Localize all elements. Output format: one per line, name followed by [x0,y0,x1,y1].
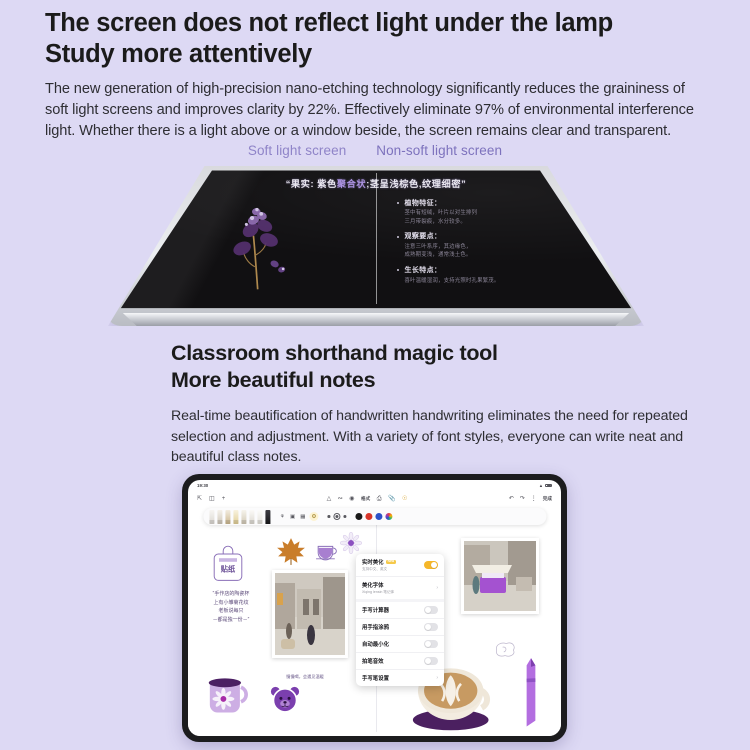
sidebar-icon[interactable]: ◫ [209,496,215,502]
check-circle-icon[interactable]: ◉ [349,496,354,502]
setting-title: 自动最小化 [362,640,389,648]
section-one-text: The screen does not reflect light under … [45,8,705,141]
label-non-soft-light-screen: Non-soft light screen [376,143,502,158]
maple-leaf-sticker [274,536,308,566]
app-toolbar: ⇱ ◫ + △ ∾ ◉ 格式 ⎙ 📎 ☉ ↶ ↷ ⋮ 完成 [188,491,561,506]
tool-fountain-pen[interactable] [209,510,214,524]
more-icon[interactable]: ⋮ [531,496,537,502]
tablet-notes-device: 19:30 ▲ ⇱ ◫ + △ ∾ ◉ 格式 ⎙ [182,474,567,742]
insert-icon[interactable]: ⎙ [377,496,382,502]
toggle-switch-off[interactable] [424,640,438,648]
toolbar-right-group: ↶ ↷ ⋮ 完成 [509,496,552,502]
heading-line-1: The screen does not reflect light under … [45,8,705,39]
screen-comparison-labels: Soft light screen Non-soft light screen [0,143,750,158]
stroke-size-large[interactable] [343,515,347,519]
street-photo [275,573,345,655]
status-time: 19:30 [197,483,208,488]
setting-title: 手写计算器 [362,606,389,614]
purple-stylus [523,656,539,730]
attach-icon[interactable]: 📎 [388,496,395,502]
note-canvas[interactable]: 贴纸 “手作店的陶瓷杯 上有小雏菊花纹 老板说每只 －都是独一份－” [188,506,561,736]
setting-title: 美化字体 [362,581,394,589]
record-icon[interactable]: ☉ [402,496,407,502]
toggle-switch-off[interactable] [424,606,438,614]
handwriting-settings-panel[interactable]: 实时美化 New 支持中文、英文 美化字体 Xiqing lensin 笔记体 [356,554,444,686]
settings-icon[interactable]: ⚙ [310,512,319,521]
product-page: The screen does not reflect light under … [0,0,750,750]
toggle-knob [425,641,431,647]
lasso-icon[interactable]: △ [327,496,332,502]
color-swatch-red[interactable] [366,513,373,520]
done-button[interactable]: 完成 [543,496,552,502]
tool-pencil[interactable] [217,510,222,524]
setting-subtitle: Xiqing lensin 笔记体 [362,590,394,595]
section-one-heading: The screen does not reflect light under … [45,8,705,70]
text-box-icon[interactable]: ▣ [289,514,296,520]
section-one-body: The new generation of high-precision nan… [45,79,705,141]
street-photo-frame [272,570,348,658]
tool-ink-pen[interactable] [265,510,270,524]
plant-notes-list: 植物特征： 茎中有短绒，叶片以对生排列 三月带裂痕，水分较多。 观察要点： 注意… [397,199,611,291]
setting-label-group: 实时美化 New 支持中文、英文 [362,558,396,572]
heading-line-1: Classroom shorthand magic tool [171,340,716,367]
tool-eraser[interactable] [249,510,254,524]
heading-line-2: More beautiful notes [171,367,716,394]
pen-tool-bar[interactable]: ⚘ ▣ ▦ ⚙ [203,508,546,525]
toggle-knob [425,658,431,664]
status-indicators: ▲ [539,483,552,488]
toggle-switch-on[interactable] [424,561,438,569]
tablet-display: “果实: 紫色聚合状;茎呈浅棕色,纹理细密” [108,166,644,314]
section-two-heading: Classroom shorthand magic tool More beau… [171,340,716,394]
color-swatch-black[interactable] [356,513,363,520]
setting-title: 实时美化 New [362,558,396,566]
setting-label-group: 美化字体 Xiqing lensin 笔记体 [362,581,394,595]
teacup-sticker [314,539,340,561]
daisy-flower-sticker [340,532,362,554]
expand-icon[interactable]: ⇱ [197,496,202,502]
sticker-bag-illustration: 贴纸 [210,542,246,584]
doodle-sketch [493,640,517,658]
tool-highlighter[interactable] [233,510,238,524]
wifi-icon: ▲ [539,483,543,488]
note-item: 观察要点： 注意三叶系序，其边缘色， 成熟期变浅，通常浅土色。 [397,232,611,260]
redo-icon[interactable]: ↷ [520,496,525,502]
setting-row-finger-draw[interactable]: 用手指涂鸦 [356,618,444,635]
crop-icon[interactable]: ▦ [299,514,306,520]
setting-subtitle: 支持中文、英文 [362,567,396,572]
note-item: 生长特点： 喜叶温暖湿润，支持光照时孔果繁茂。 [397,266,611,285]
cut-icon[interactable]: ⚘ [279,514,286,520]
undo-icon[interactable]: ↶ [509,496,514,502]
tablet-bottom-edge [119,313,634,326]
setting-row-handwriting-calculator[interactable]: 手写计算器 [356,602,444,618]
shop-photo [464,541,536,611]
setting-row-auto-minimize[interactable]: 自动最小化 [356,635,444,652]
sticker-bag-label: 贴纸 [221,564,236,573]
setting-row-stylus-settings[interactable]: 手写笔设置 › [356,669,444,686]
screen-comparison-divider [376,173,377,303]
tool-marker[interactable] [225,510,230,524]
toggle-switch-off[interactable] [424,657,438,665]
setting-row-realtime-beautify[interactable]: 实时美化 New 支持中文、英文 [356,554,444,576]
notes-app-screen: 19:30 ▲ ⇱ ◫ + △ ∾ ◉ 格式 ⎙ [188,480,561,736]
mug-caption: 慢慢喝，会遇见温暖 [272,674,338,680]
section-two-text: Classroom shorthand magic tool More beau… [171,340,716,468]
stroke-size-medium[interactable] [333,513,340,520]
toolbar-center-group: △ ∾ ◉ 格式 ⎙ 📎 ☉ [327,496,408,502]
add-icon[interactable]: + [222,496,226,502]
section-two-body: Real-time beautification of handwritten … [171,406,716,468]
tablet-perspective-device: “果实: 紫色聚合状;茎呈浅棕色,纹理细密” [108,166,644,326]
tool-brush[interactable] [241,510,246,524]
setting-title: 用手指涂鸦 [362,623,389,631]
toggle-knob [431,562,437,568]
new-badge: New [386,560,396,564]
setting-row-pen-sound[interactable]: 拍笔音效 [356,652,444,669]
toolbar-left-group: ⇱ ◫ + [197,496,225,502]
setting-title: 手写笔设置 [362,674,389,682]
purple-bear-sticker [268,684,302,714]
setting-row-beautify-font[interactable]: 美化字体 Xiqing lensin 笔记体 › [356,576,444,599]
battery-icon [545,484,552,488]
shapes-icon[interactable]: ∾ [338,496,343,502]
chevron-right-icon[interactable]: › [436,675,438,681]
setting-title: 拍笔音效 [362,657,384,665]
plant-illustration [188,199,327,291]
color-swatch-blue[interactable] [376,513,383,520]
status-bar: 19:30 ▲ [188,480,561,491]
handwritten-note: “手作店的陶瓷杯 上有小雏菊花纹 老板说每只 －都是独一份－” [200,590,262,624]
toggle-knob [425,624,431,630]
purple-mug-sticker [204,674,256,718]
toggle-switch-off[interactable] [424,623,438,631]
heading-line-2: Study more attentively [45,39,705,70]
stroke-size-small[interactable] [328,515,331,518]
color-swatch-rainbow[interactable] [386,513,393,520]
toggle-knob [425,607,431,613]
chevron-right-icon[interactable]: › [436,585,438,591]
label-soft-light-screen: Soft light screen [248,143,347,158]
format-label[interactable]: 格式 [361,496,370,502]
tool-ruler[interactable] [257,510,262,524]
shop-photo-frame [461,538,539,614]
